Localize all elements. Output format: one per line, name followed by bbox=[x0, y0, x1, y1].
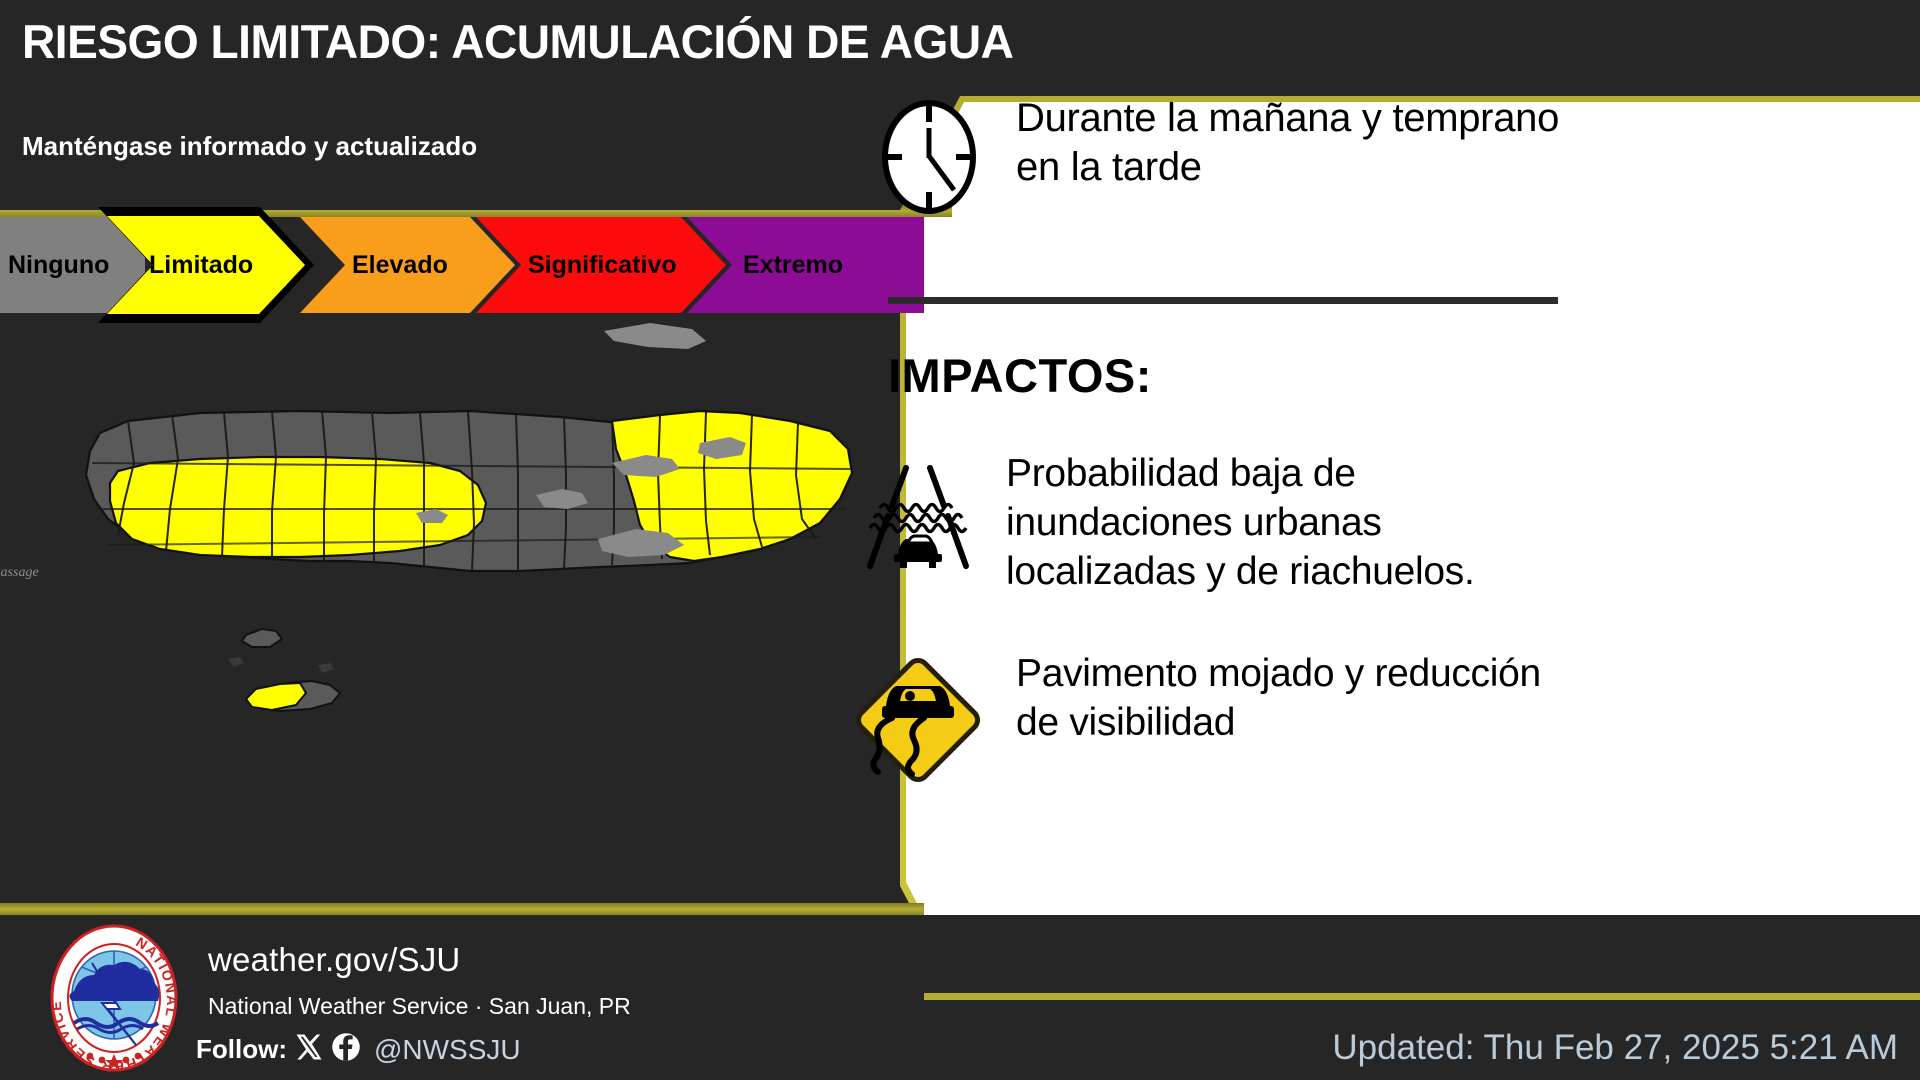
footer-accent-line bbox=[924, 993, 1920, 1000]
risk-level-label: Ninguno bbox=[0, 251, 109, 280]
x-icon[interactable] bbox=[294, 1032, 324, 1067]
risk-scale: Ninguno Elevado Significativo Extremo Li… bbox=[0, 217, 924, 313]
puerto-rico-map bbox=[0, 313, 924, 903]
risk-level-label: Elevado bbox=[300, 251, 448, 280]
panel-divider bbox=[888, 297, 1558, 304]
footer-divider bbox=[0, 903, 924, 915]
timing-row: Durante la mañana y temprano en la tarde bbox=[870, 94, 1570, 221]
website-url[interactable]: weather.gov/SJU bbox=[208, 941, 460, 979]
impact-text-1: Probabilidad baja de inundaciones urbana… bbox=[1006, 450, 1578, 596]
updated-timestamp: Updated: Thu Feb 27, 2025 5:21 AM bbox=[1332, 1028, 1898, 1068]
impact-text-2: Pavimento mojado y reducción de visibili… bbox=[1016, 650, 1578, 748]
office-name: National Weather Service · San Juan, PR bbox=[208, 993, 631, 1020]
page-title: RIESGO LIMITADO: ACUMULACIÓN DE AGUA bbox=[22, 14, 1013, 69]
follow-row: Follow: @NWSSJU bbox=[196, 1032, 521, 1067]
map-water-label: Passage bbox=[0, 565, 39, 581]
map-panel: Passage bbox=[0, 313, 924, 903]
follow-label: Follow: bbox=[196, 1034, 287, 1065]
impact-item-1: Probabilidad baja de inundaciones urbana… bbox=[858, 450, 1578, 596]
nws-logo: NATIONAL WEATHER SERVICE bbox=[44, 923, 184, 1078]
social-handle[interactable]: @NWSSJU bbox=[374, 1034, 521, 1066]
weather-graphic: Passage Durante la mañana y temprano en … bbox=[0, 0, 1920, 1080]
flooded-road-icon bbox=[858, 450, 978, 575]
page-subtitle: Manténgase informado y actualizado bbox=[22, 131, 477, 162]
impact-item-2: Pavimento mojado y reducción de visibili… bbox=[848, 650, 1578, 795]
risk-level-elevado[interactable]: Elevado bbox=[300, 217, 515, 313]
clock-icon bbox=[870, 98, 988, 221]
timing-text: Durante la mañana y temprano en la tarde bbox=[1016, 94, 1570, 192]
facebook-icon[interactable] bbox=[331, 1032, 361, 1067]
slippery-road-sign-icon bbox=[848, 650, 988, 795]
impacts-heading: IMPACTOS: bbox=[888, 348, 1152, 403]
